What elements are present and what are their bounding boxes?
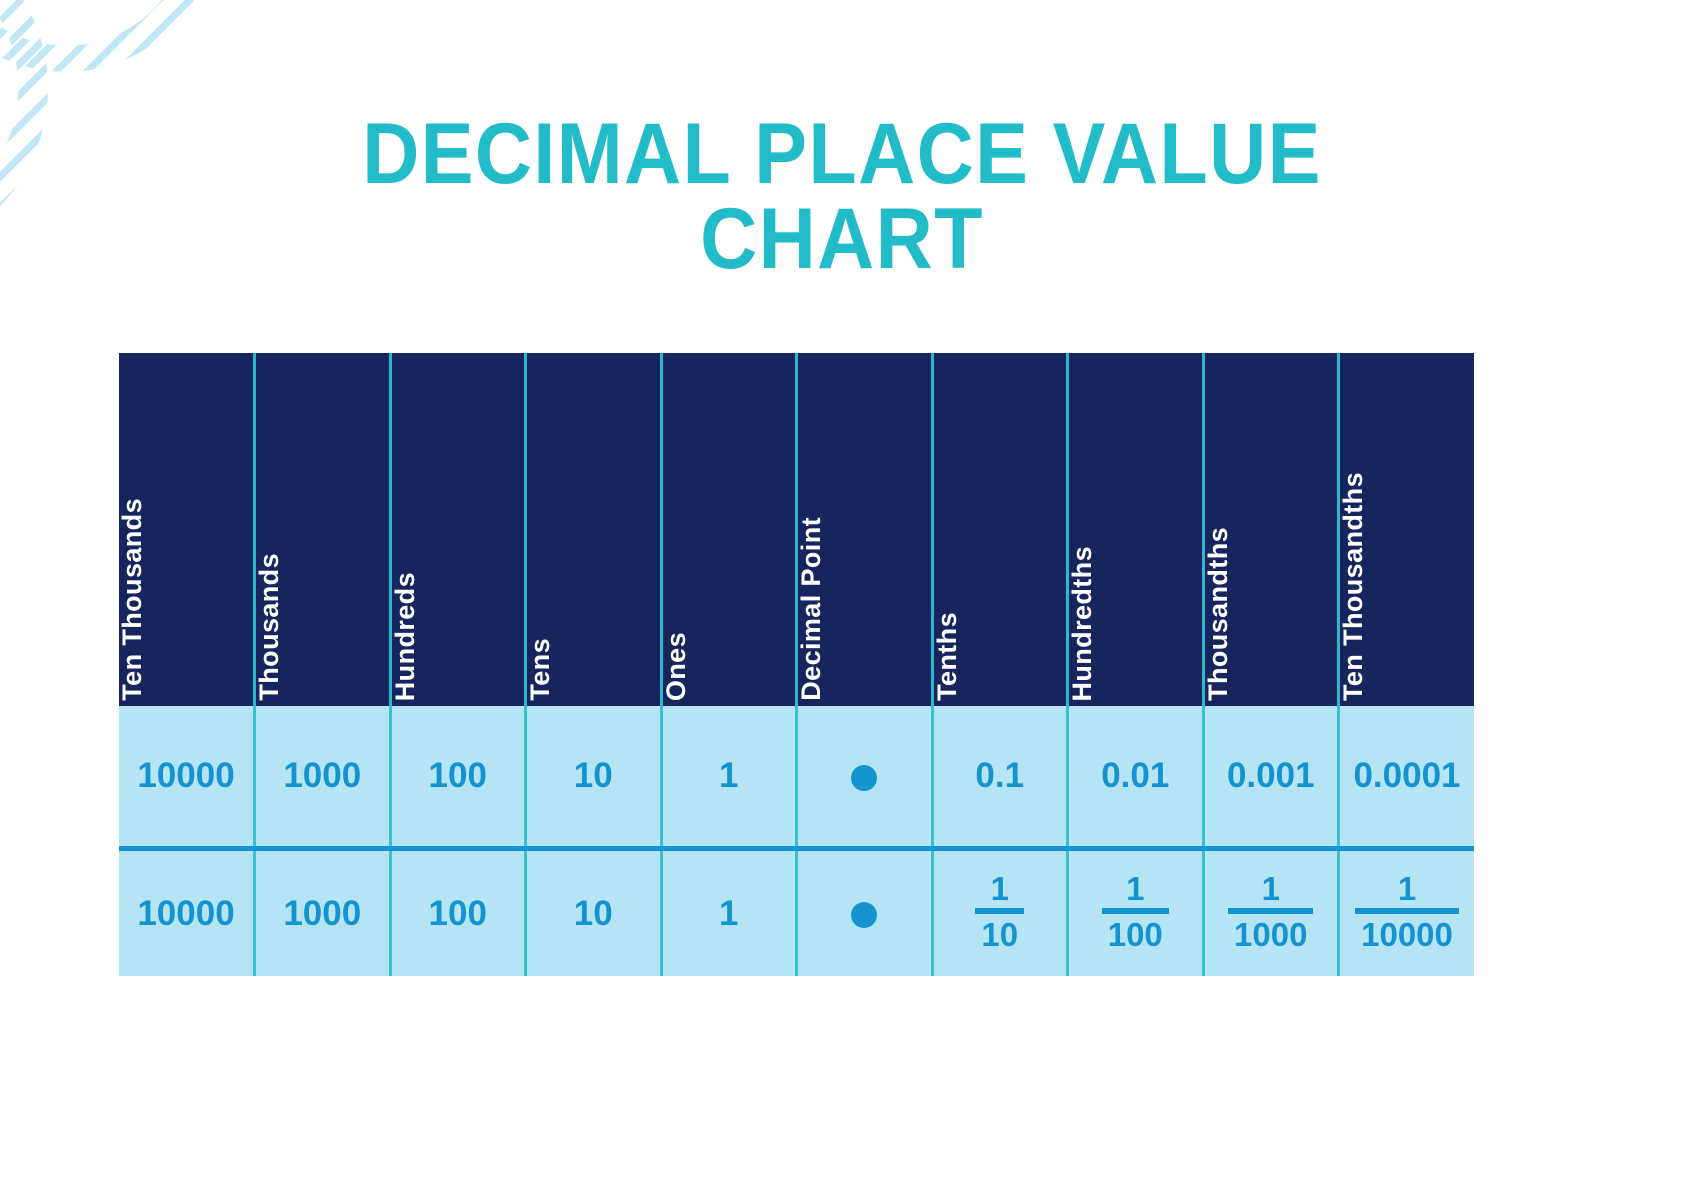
column-header-label: Ones: [663, 620, 690, 701]
fraction-denominator: 10: [975, 908, 1024, 952]
column-header-label: Hundredths: [1069, 534, 1096, 702]
cell-value: 100: [429, 756, 487, 796]
cell-value: 0.001: [1227, 756, 1315, 796]
cell-decimal-3: 10: [526, 706, 662, 849]
column-header-ones: Ones: [661, 353, 797, 706]
column-header-label: Tenths: [934, 600, 961, 701]
cell-value: 1000: [283, 756, 361, 796]
cell-value: 100: [429, 894, 487, 934]
cell-value: 0.0001: [1353, 756, 1460, 796]
table-row-fraction-values: 10000 1000 100 10 1 1 10 1 100 1: [119, 849, 1474, 977]
fraction-denominator: 100: [1102, 908, 1169, 952]
fraction-denominator: 1000: [1228, 908, 1313, 952]
cell-fraction-2: 100: [390, 849, 526, 977]
column-header-label: Decimal Point: [798, 505, 825, 701]
fraction-ten-thousandths: 1 10000: [1355, 872, 1459, 952]
cell-decimal-1: 1000: [255, 706, 391, 849]
cell-value: 1: [719, 756, 738, 796]
column-header-thousandths: Thousandths: [1203, 353, 1339, 706]
column-header-thousands: Thousands: [255, 353, 391, 706]
cell-value: 10000: [137, 756, 234, 796]
table-header-row: Ten Thousands Thousands Hundreds Tens On…: [119, 353, 1474, 706]
cell-value: 10: [574, 756, 613, 796]
cell-decimal-6: 0.1: [932, 706, 1068, 849]
cell-fraction-4: 1: [661, 849, 797, 977]
column-header-hundredths: Hundredths: [1068, 353, 1204, 706]
column-header-label: Thousandths: [1205, 515, 1232, 701]
decimal-point-dot-icon: [851, 765, 877, 791]
column-header-label: Thousands: [256, 541, 283, 701]
cell-fraction-8: 1 1000: [1203, 849, 1339, 977]
page-title: DECIMAL PLACE VALUE CHART: [354, 112, 1329, 282]
fraction-hundredths: 1 100: [1102, 872, 1169, 952]
table-row-decimal-values: 10000 1000 100 10 1 0.1 0.01 0.001 0.000…: [119, 706, 1474, 849]
fraction-numerator: 1: [1355, 872, 1459, 909]
fraction-tenths: 1 10: [975, 872, 1024, 952]
striped-ring-bottom-left-icon: [0, 0, 216, 72]
cell-fraction-decimal-point-marker: [797, 849, 933, 977]
cell-value: 0.1: [975, 756, 1024, 796]
column-header-ten-thousands: Ten Thousands: [119, 353, 255, 706]
decimal-place-value-table: Ten Thousands Thousands Hundreds Tens On…: [119, 353, 1474, 976]
cell-decimal-0: 10000: [119, 706, 255, 849]
column-header-label: Hundreds: [392, 560, 419, 701]
column-header-ten-thousandths: Ten Thousandths: [1339, 353, 1475, 706]
fraction-numerator: 1: [1228, 872, 1313, 909]
cell-decimal-9: 0.0001: [1339, 706, 1475, 849]
cell-fraction-1: 1000: [255, 849, 391, 977]
decimal-point-dot-icon: [851, 902, 877, 928]
column-header-label: Tens: [527, 626, 554, 701]
fraction-numerator: 1: [975, 872, 1024, 909]
page-title-wrapper: DECIMAL PLACE VALUE CHART: [0, 112, 1684, 282]
column-header-label: Ten Thousandths: [1340, 460, 1367, 701]
cell-decimal-2: 100: [390, 706, 526, 849]
fraction-denominator: 10000: [1355, 908, 1459, 952]
cell-fraction-9: 1 10000: [1339, 849, 1475, 977]
cell-fraction-3: 10: [526, 849, 662, 977]
column-header-tenths: Tenths: [932, 353, 1068, 706]
cell-fraction-7: 1 100: [1068, 849, 1204, 977]
column-header-tens: Tens: [526, 353, 662, 706]
cell-value: 0.01: [1101, 756, 1169, 796]
column-header-decimal-point: Decimal Point: [797, 353, 933, 706]
cell-fraction-0: 10000: [119, 849, 255, 977]
cell-value: 1: [719, 894, 738, 934]
cell-fraction-6: 1 10: [932, 849, 1068, 977]
fraction-numerator: 1: [1102, 872, 1169, 909]
cell-decimal-4: 1: [661, 706, 797, 849]
cell-value: 1000: [283, 894, 361, 934]
column-header-hundreds: Hundreds: [390, 353, 526, 706]
cell-value: 10: [574, 894, 613, 934]
cell-value: 10000: [137, 894, 234, 934]
fraction-thousandths: 1 1000: [1228, 872, 1313, 952]
column-header-label: Ten Thousands: [119, 486, 146, 701]
cell-decimal-point-marker: [797, 706, 933, 849]
cell-decimal-7: 0.01: [1068, 706, 1204, 849]
cell-decimal-8: 0.001: [1203, 706, 1339, 849]
